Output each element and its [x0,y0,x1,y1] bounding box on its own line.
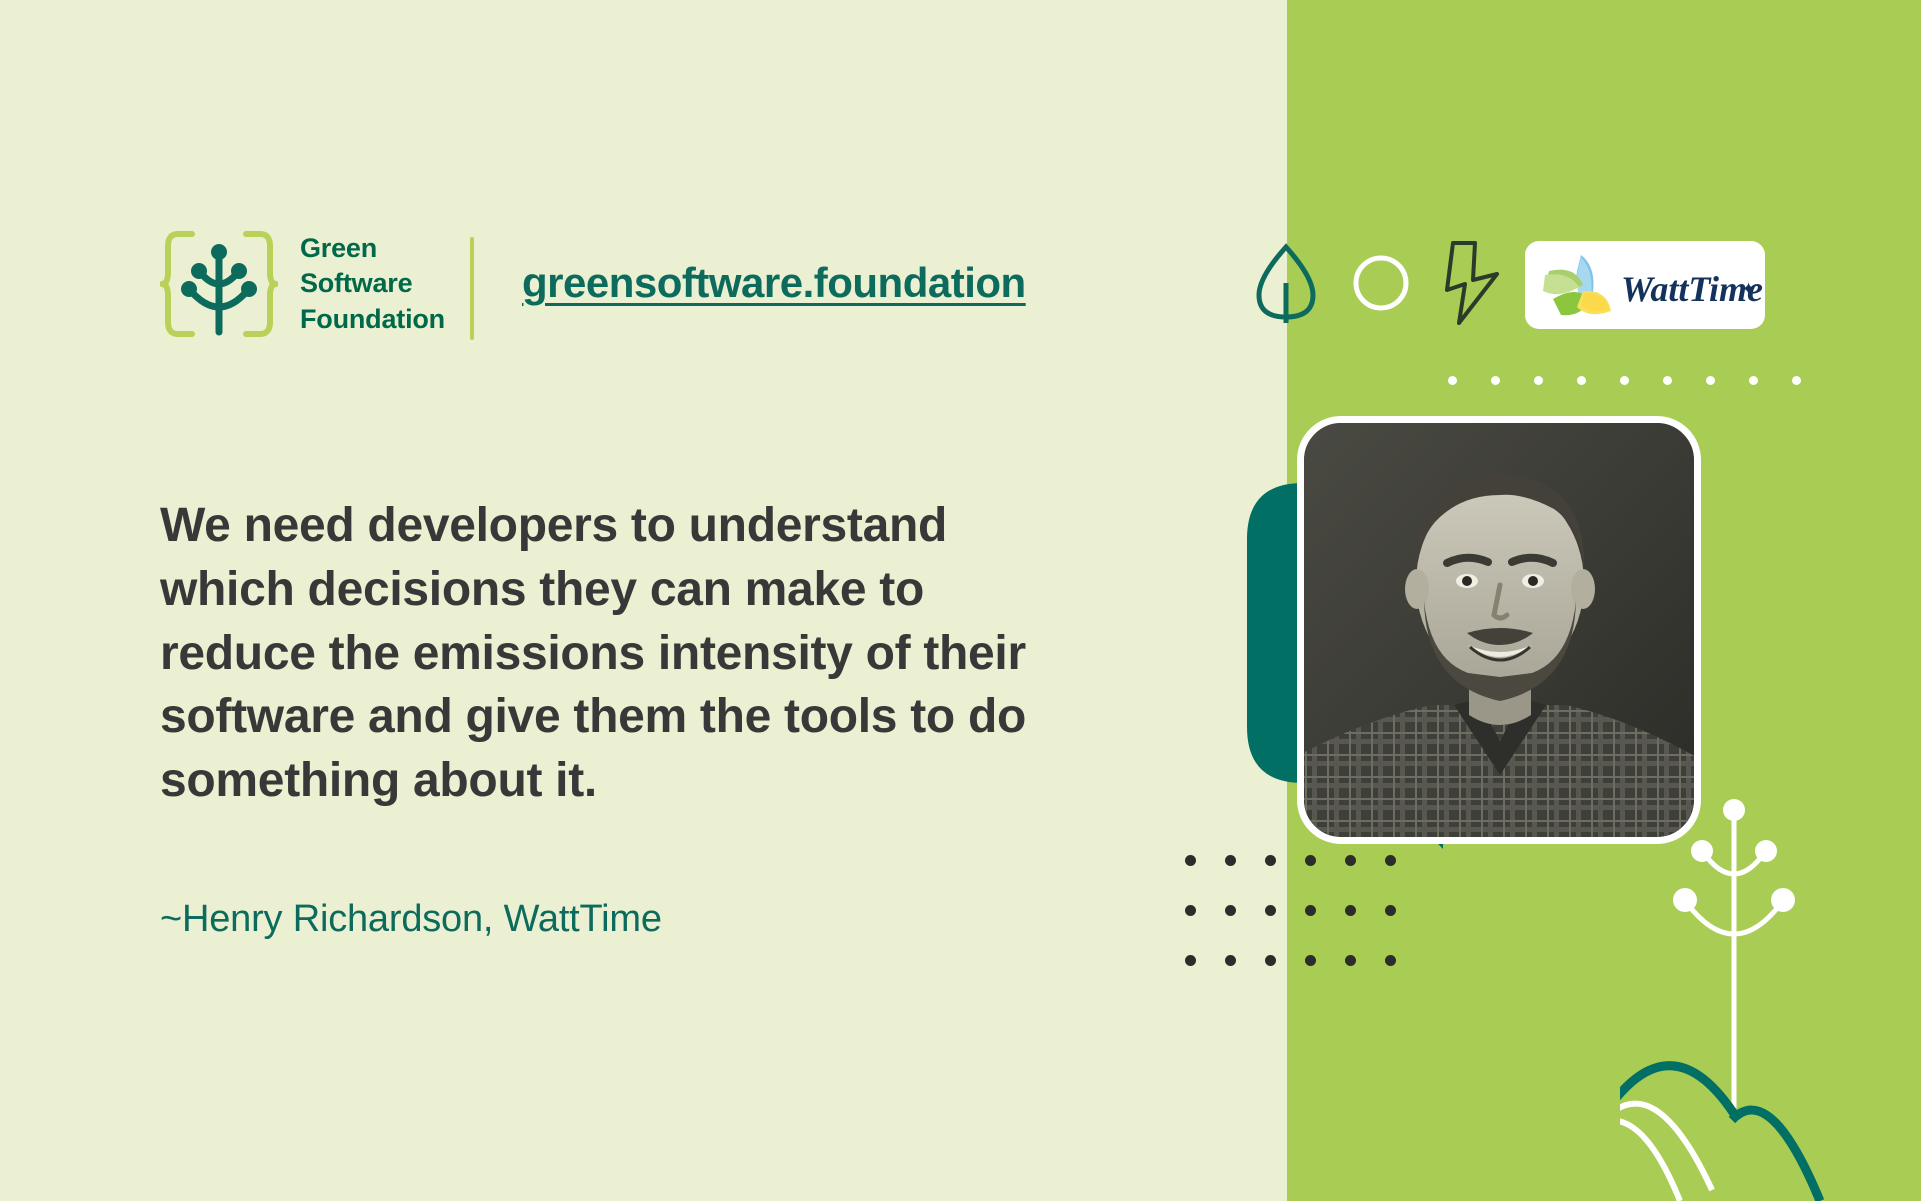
site-url-link[interactable]: greensoftware.foundation [522,259,1026,307]
gsf-bracket-tree-logo-icon [160,228,278,340]
watttime-logo[interactable]: WattTime ✦ [1525,241,1765,329]
plant-sprout-illustration [1620,790,1921,1201]
gsf-wordmark-line-1: Green [300,231,445,266]
svg-text:✦: ✦ [1741,279,1756,299]
white-dot-row [1448,376,1792,386]
gsf-wordmark-line-2: Software [300,266,445,301]
watttime-pinwheel-icon: WattTime ✦ [1525,241,1765,329]
quote-card: Green Software Foundation greensoftware.… [0,0,1921,1201]
quote-text: We need developers to understand which d… [160,494,1080,813]
dot-grid-pattern [1185,855,1425,995]
avatar [1297,416,1701,844]
gsf-wordmark-line-3: Foundation [300,302,445,337]
quote-attribution: ~Henry Richardson, WattTime [160,898,662,941]
header-divider [470,237,474,340]
gsf-logo[interactable]: Green Software Foundation [160,228,445,340]
gsf-wordmark: Green Software Foundation [300,231,445,336]
